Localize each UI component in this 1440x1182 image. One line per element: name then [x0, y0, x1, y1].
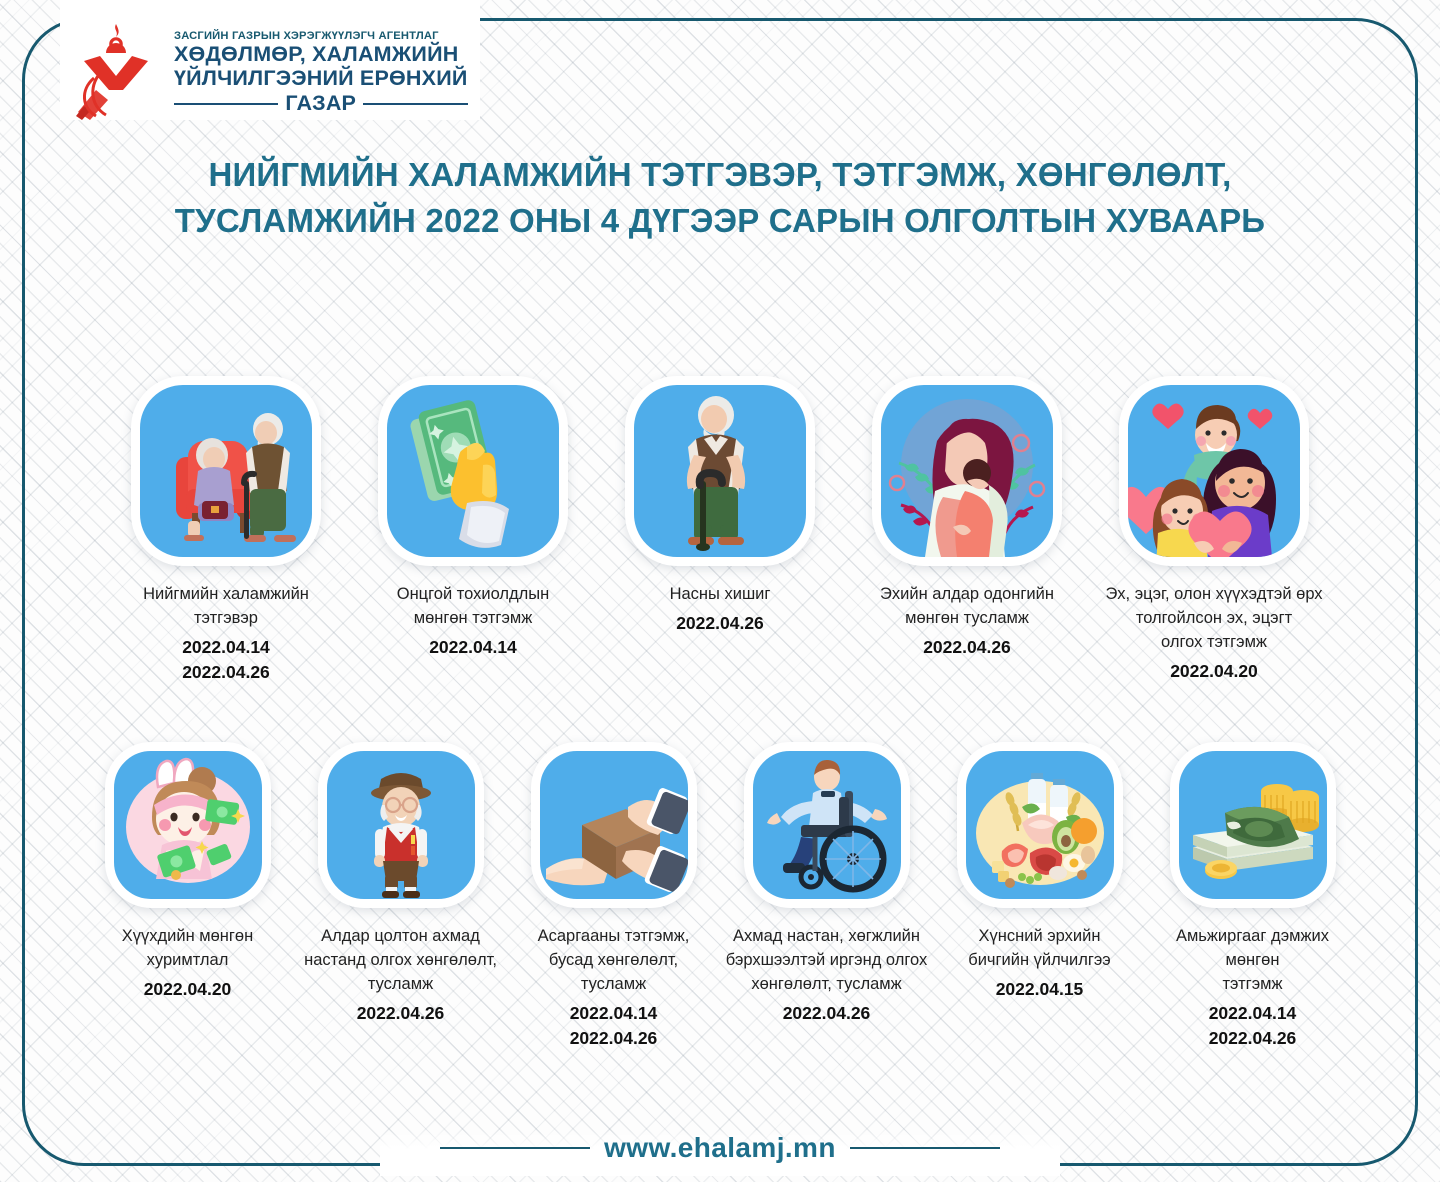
cash-and-coins-icon: [1170, 742, 1336, 908]
agency-name-line-1: ХӨДӨЛМӨР, ХАЛАМЖИЙН: [174, 42, 468, 66]
logo-rule-right: [363, 103, 467, 105]
footer-rule-right: [850, 1147, 1000, 1150]
benefit-dates: 2022.04.20: [144, 977, 232, 1002]
infographic-page: ЗАСГИЙН ГАЗРЫН ХЭРЭГЖҮҮЛЭГЧ АГЕНТЛАГ ХӨД…: [0, 0, 1440, 1182]
benefit-dates: 2022.04.26: [357, 1001, 445, 1026]
logo-rule-left: [174, 103, 278, 105]
benefit-label: Хүнсний эрхийн бичгийн үйлчилгээ: [937, 925, 1142, 973]
benefits-row-1: Нийгмийн халамжийн тэтгэвэр 2022.04.14 2…: [60, 376, 1380, 685]
elderly-couple-armchair-icon: [131, 376, 321, 566]
benefit-label: Асаргааны тэтгэмж, бусад хөнгөлөлт, тусл…: [511, 925, 716, 997]
family-with-children-icon: [1119, 376, 1309, 566]
benefit-label: Алдар цолтон ахмад настанд олгох хөнгөлө…: [298, 925, 503, 997]
benefit-dates: 2022.04.14 2022.04.26: [1209, 1001, 1297, 1051]
benefits-row-2: Хүүхдийн мөнгөн хуримтлал 2022.04.20: [60, 742, 1380, 1050]
benefit-dates: 2022.04.26: [923, 635, 1011, 660]
benefit-label: Эхийн алдар одонгийн мөнгөн тусламж: [850, 583, 1085, 631]
benefit-card[interactable]: Онцгой тохиолдлын мөнгөн тэтгэмж 2022.04…: [350, 376, 597, 685]
agency-name-line-2: ҮЙЛЧИЛГЭЭНИЙ ЕРӨНХИЙ: [174, 66, 468, 90]
benefit-card[interactable]: Нийгмийн халамжийн тэтгэвэр 2022.04.14 2…: [103, 376, 350, 685]
benefit-card[interactable]: Эхийн алдар одонгийн мөнгөн тусламж 2022…: [844, 376, 1091, 685]
benefit-label: Хүүхдийн мөнгөн хуримтлал: [85, 925, 290, 973]
website-url[interactable]: www.ehalamj.mn: [604, 1132, 836, 1164]
agency-line: ЗАСГИЙН ГАЗРЫН ХЭРЭГЖҮҮЛЭГЧ АГЕНТЛАГ: [174, 30, 468, 42]
benefit-dates: 2022.04.14 2022.04.26: [182, 635, 270, 685]
benefit-label: Ахмад настан, хөгжлийн бэрхшээлтэй иргэн…: [724, 925, 929, 997]
benefit-dates: 2022.04.14: [429, 635, 517, 660]
elderly-man-cane-icon: [625, 376, 815, 566]
benefit-card[interactable]: Насны хишиг 2022.04.26: [597, 376, 844, 685]
agency-logo-icon: [70, 20, 162, 120]
food-basket-icon: [957, 742, 1123, 908]
footer-rule-left: [440, 1147, 590, 1150]
benefit-card[interactable]: Алдар цолтон ахмад настанд олгох хөнгөлө…: [294, 742, 507, 1050]
honored-elder-man-icon: [318, 742, 484, 908]
benefit-label: Онцгой тохиолдлын мөнгөн тэтгэмж: [356, 583, 591, 631]
benefit-dates: 2022.04.15: [996, 977, 1084, 1002]
agency-name-line-3: ГАЗАР: [285, 91, 356, 116]
hand-holding-cash-icon: [378, 376, 568, 566]
man-in-wheelchair-icon: [744, 742, 910, 908]
hands-giving-box-icon: [531, 742, 697, 908]
footer: www.ehalamj.mn: [60, 1132, 1380, 1164]
agency-name-line-3-wrap: ГАЗАР: [174, 91, 468, 116]
header: ЗАСГИЙН ГАЗРЫН ХЭРЭГЖҮҮЛЭГЧ АГЕНТЛАГ ХӨД…: [70, 14, 500, 126]
benefit-label: Амьжиргааг дэмжих мөнгөн тэтгэмж: [1150, 925, 1355, 997]
benefit-dates: 2022.04.26: [676, 611, 764, 636]
child-with-money-icon: [105, 742, 271, 908]
benefit-card[interactable]: Хүүхдийн мөнгөн хуримтлал 2022.04.20: [81, 742, 294, 1050]
benefit-label: Эх, эцэг, олон хүүхэдтэй өрх толгойлсон …: [1097, 583, 1332, 655]
benefit-dates: 2022.04.14 2022.04.26: [570, 1001, 658, 1051]
benefit-label: Нийгмийн халамжийн тэтгэвэр: [109, 583, 344, 631]
benefit-dates: 2022.04.20: [1170, 659, 1258, 684]
benefit-card[interactable]: Эх, эцэг, олон хүүхэдтэй өрх толгойлсон …: [1091, 376, 1338, 685]
page-title: НИЙГМИЙН ХАЛАМЖИЙН ТЭТГЭВЭР, ТЭТГЭМЖ, ХӨ…: [120, 152, 1320, 243]
benefit-card[interactable]: Ахмад настан, хөгжлийн бэрхшээлтэй иргэн…: [720, 742, 933, 1050]
benefit-dates: 2022.04.26: [783, 1001, 871, 1026]
agency-logo-text: ЗАСГИЙН ГАЗРЫН ХЭРЭГЖҮҮЛЭГЧ АГЕНТЛАГ ХӨД…: [174, 24, 468, 116]
mother-with-baby-icon: [872, 376, 1062, 566]
benefit-label: Насны хишиг: [603, 583, 838, 607]
benefit-card[interactable]: Асаргааны тэтгэмж, бусад хөнгөлөлт, тусл…: [507, 742, 720, 1050]
benefit-card[interactable]: Хүнсний эрхийн бичгийн үйлчилгээ 2022.04…: [933, 742, 1146, 1050]
benefit-card[interactable]: Амьжиргааг дэмжих мөнгөн тэтгэмж 2022.04…: [1146, 742, 1359, 1050]
